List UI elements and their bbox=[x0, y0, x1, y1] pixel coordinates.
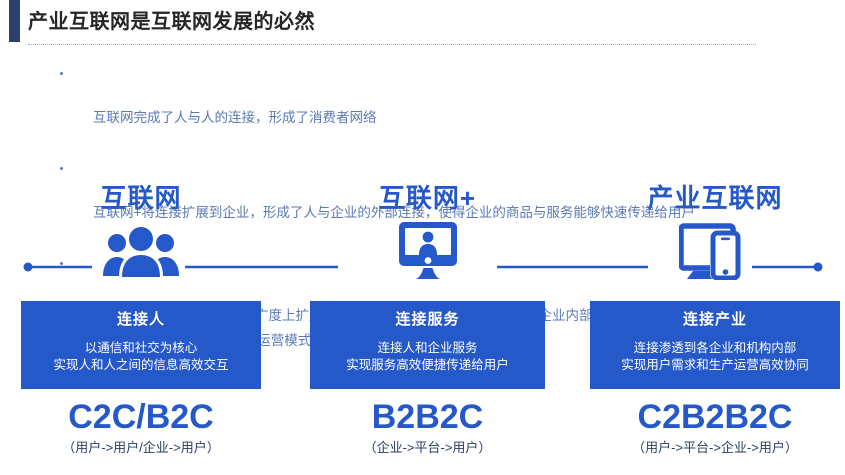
stage-info-box: 连接人 以通信和社交为核心 实现人和人之间的信息高效交互 bbox=[21, 301, 261, 389]
model-flow: （用户->平台->企业->用户） bbox=[590, 439, 840, 457]
box-title: 连接产业 bbox=[590, 308, 840, 332]
bullet-dot-icon bbox=[60, 167, 63, 170]
box-title: 连接服务 bbox=[310, 308, 545, 332]
box-description: 连接渗透到各企业和机构内部 实现用户需求和生产运营高效协同 bbox=[590, 340, 840, 374]
box-description: 以通信和社交为核心 实现人和人之间的信息高效交互 bbox=[21, 340, 261, 374]
list-item: 互联网完成了人与人的连接，形成了消费者网络 bbox=[56, 63, 826, 151]
tablet-phone-icon bbox=[590, 220, 840, 282]
box-title: 连接人 bbox=[21, 308, 261, 332]
box-description: 连接人和企业服务 实现服务高效便捷传递给用户 bbox=[310, 340, 545, 374]
column-heading: 产业互联网 bbox=[590, 182, 840, 220]
business-model-label: C2B2B2C （用户->平台->企业->用户） bbox=[590, 397, 840, 457]
column-heading: 互联网 bbox=[21, 182, 261, 220]
model-flow: （企业->平台->用户） bbox=[310, 439, 545, 457]
stage-column-internet-plus: 互联网+ bbox=[310, 182, 545, 282]
stage-info-box: 连接产业 连接渗透到各企业和机构内部 实现用户需求和生产运营高效协同 bbox=[590, 301, 840, 389]
model-code: C2C/B2C bbox=[21, 397, 261, 437]
bullet-dot-icon bbox=[60, 72, 63, 75]
business-model-label: B2B2C （企业->平台->用户） bbox=[310, 397, 545, 457]
model-code: B2B2C bbox=[310, 397, 545, 437]
business-model-label: C2C/B2C （用户->用户/企业->用户） bbox=[21, 397, 261, 457]
stage-column-industrial-internet: 产业互联网 bbox=[590, 182, 840, 282]
page-header: 产业互联网是互联网发展的必然 bbox=[0, 0, 845, 48]
model-flow: （用户->用户/企业->用户） bbox=[21, 439, 261, 457]
stage-columns: 互联网 互联网+ bbox=[0, 182, 845, 475]
desktop-monitor-user-icon bbox=[310, 220, 545, 282]
people-group-icon bbox=[21, 220, 261, 282]
bullet-text: 互联网完成了人与人的连接，形成了消费者网络 bbox=[93, 110, 377, 125]
title-divider bbox=[28, 44, 756, 45]
model-code: C2B2B2C bbox=[590, 397, 840, 437]
column-heading: 互联网+ bbox=[310, 182, 545, 220]
stage-info-box: 连接服务 连接人和企业服务 实现服务高效便捷传递给用户 bbox=[310, 301, 545, 389]
page-title: 产业互联网是互联网发展的必然 bbox=[28, 5, 315, 34]
title-accent-bar bbox=[9, 0, 20, 42]
stage-column-internet: 互联网 bbox=[21, 182, 261, 282]
